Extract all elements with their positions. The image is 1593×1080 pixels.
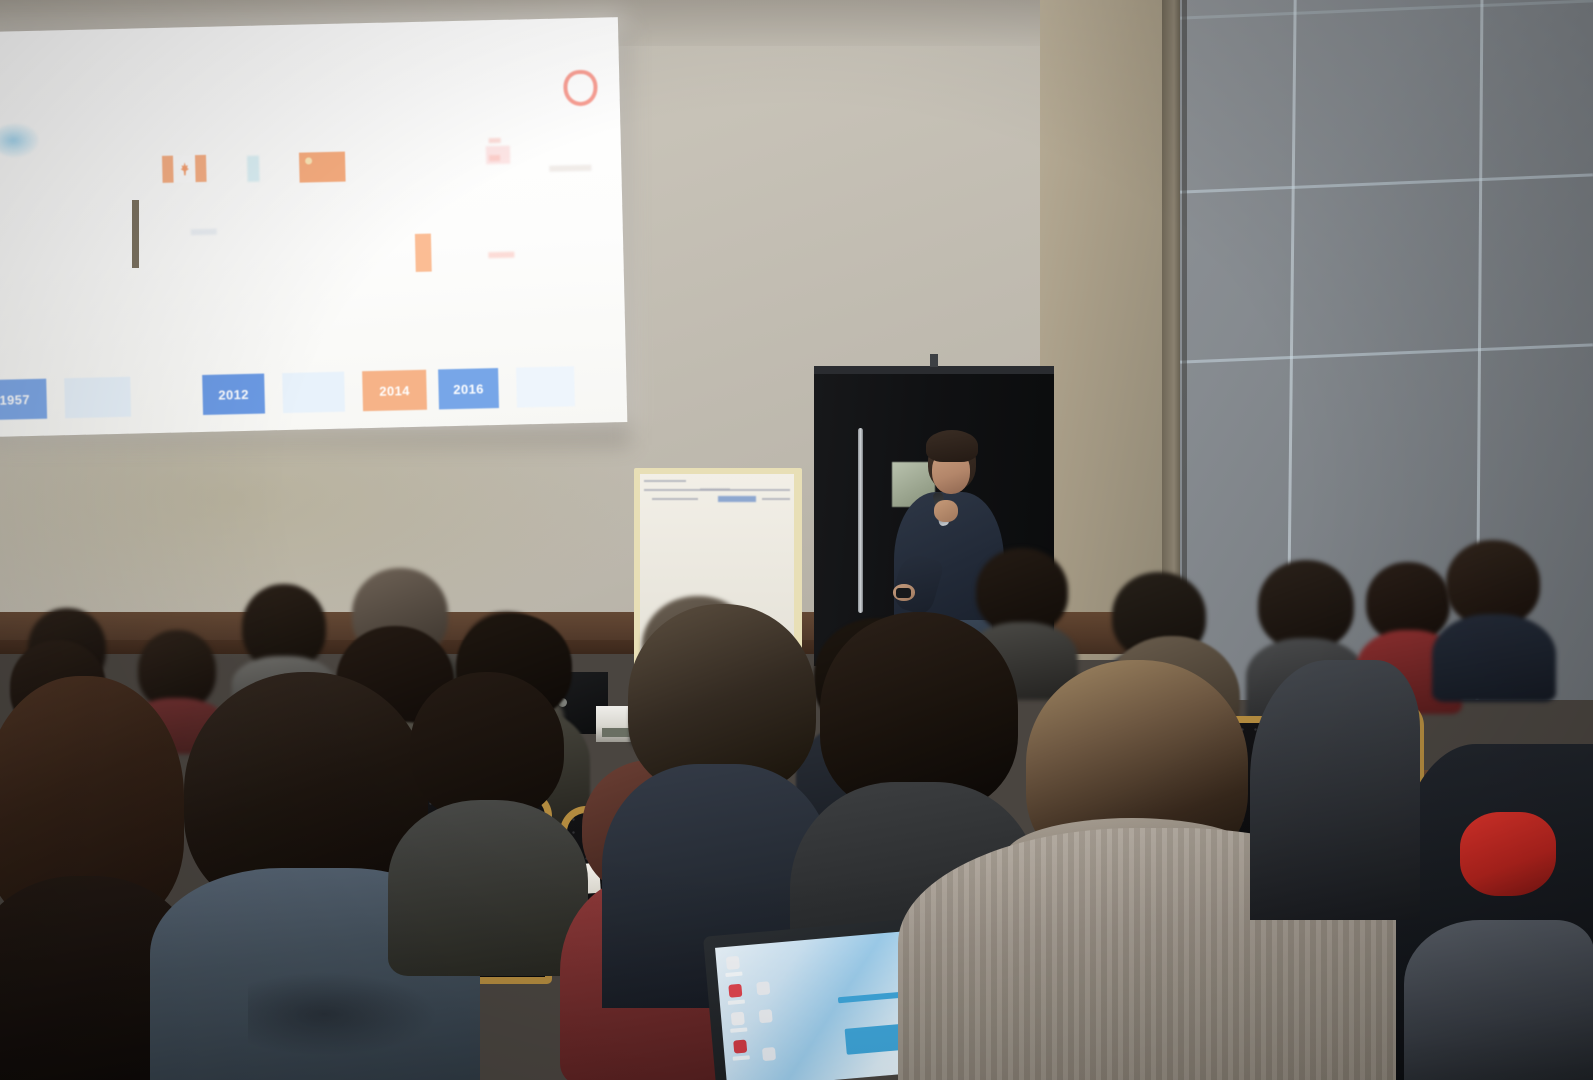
projection-screen: 1957201220142016 — [0, 17, 627, 437]
partition-seam-horizontal — [1180, 343, 1593, 363]
faint-mark — [489, 155, 500, 161]
presentation-clicker-icon — [896, 588, 911, 598]
orange-bar-graphic — [415, 234, 432, 272]
desktop-icon[interactable] — [726, 956, 740, 970]
door-handle[interactable] — [858, 428, 863, 613]
desktop-icon[interactable] — [762, 1047, 776, 1061]
desktop-icon[interactable] — [756, 981, 770, 995]
china-flag-icon — [299, 152, 346, 183]
faint-mark — [489, 138, 501, 143]
canada-flag-icon — [162, 155, 207, 183]
faint-mark — [191, 229, 217, 236]
desktop-icon[interactable] — [733, 1040, 747, 1054]
flipchart-leg — [132, 200, 139, 268]
faint-mark — [488, 252, 514, 259]
timeline-box: 2016 — [438, 368, 499, 409]
timeline-box — [516, 366, 575, 407]
desktop-icon[interactable] — [728, 984, 742, 998]
partition-seam-horizontal — [1180, 0, 1593, 20]
faint-flag-icon — [247, 156, 260, 182]
conference-photo: 1957201220142016 — [0, 0, 1593, 1080]
blue-swoosh-icon — [0, 123, 39, 158]
presenter-hair — [926, 430, 978, 462]
faint-mark — [549, 165, 591, 172]
list-item — [1404, 920, 1593, 1080]
door-header — [814, 366, 1054, 374]
timeline-box: 2014 — [362, 370, 427, 411]
timeline-box — [282, 372, 345, 413]
milestone-timeline: 1957201220142016 — [0, 365, 627, 424]
flipchart-writing — [762, 498, 790, 500]
timeline-box: 1957 — [0, 379, 47, 420]
timeline-box: 2012 — [202, 374, 265, 415]
desktop-icon-label — [725, 972, 742, 977]
partition-seam-horizontal — [1180, 173, 1593, 193]
door-latch-icon — [930, 354, 938, 367]
red-bag — [1460, 812, 1556, 896]
desktop-icon[interactable] — [731, 1012, 745, 1026]
red-circle-icon — [563, 70, 598, 107]
desktop-icon-label — [728, 999, 745, 1004]
denim-jacket-graphic — [248, 972, 438, 1056]
flipchart-writing — [652, 498, 698, 500]
flipchart-writing — [644, 480, 686, 482]
flipchart-writing-blue — [718, 496, 756, 502]
list-item — [1432, 540, 1556, 700]
presenter-hand-mic — [934, 500, 958, 522]
desktop-icon-label — [730, 1027, 747, 1032]
desktop-icon-label — [733, 1055, 750, 1060]
list-item — [388, 672, 588, 972]
flipchart-writing — [700, 488, 730, 490]
desktop-icon[interactable] — [759, 1009, 773, 1023]
timeline-box — [64, 377, 131, 419]
list-item — [1250, 660, 1420, 920]
